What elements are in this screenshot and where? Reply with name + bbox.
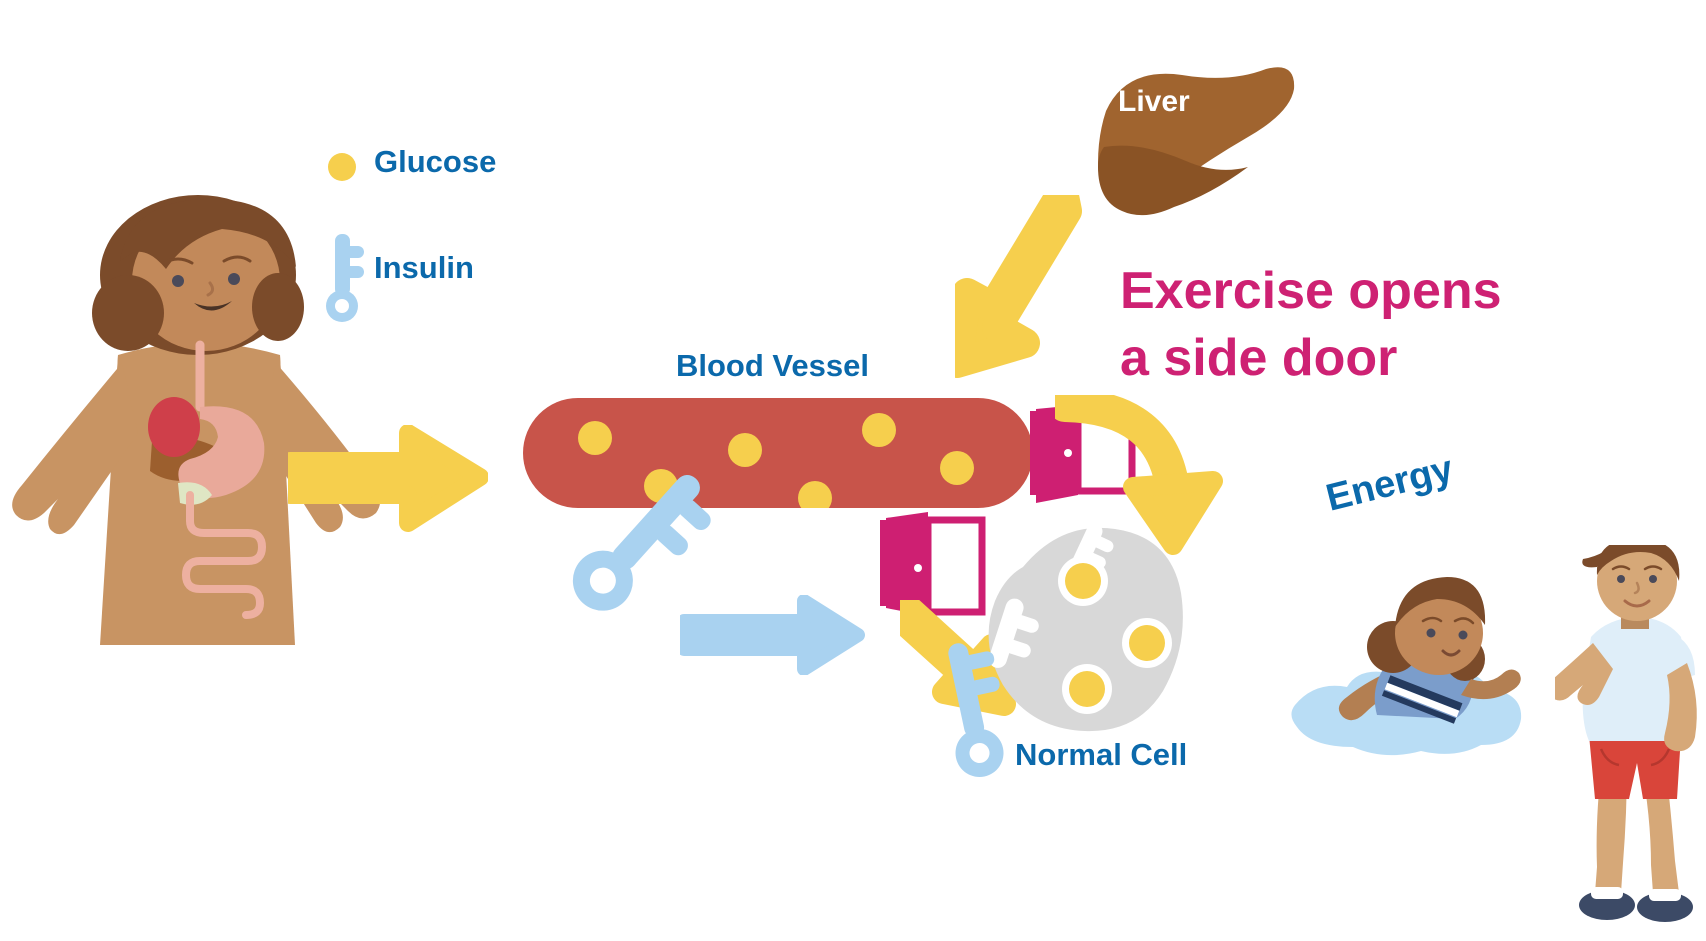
glucose-dot: [728, 433, 762, 467]
glucose-dot: [862, 413, 896, 447]
girl-swimming: [1285, 555, 1535, 805]
legend-insulin-key-icon: [322, 232, 366, 322]
glucose-dot: [578, 421, 612, 455]
headline-line-2: a side door: [1120, 325, 1640, 392]
arrow-liver-to-vessel: [955, 195, 1085, 385]
glucose-dot: [1129, 625, 1165, 661]
legend-item-label-glucose: Glucose: [374, 144, 496, 180]
page-headline: Exercise opens a side door: [1120, 258, 1640, 391]
glucose-dot: [1069, 671, 1105, 707]
liver-organ: [1070, 55, 1300, 220]
legend-item-label-insulin: Insulin: [374, 250, 474, 286]
headline-line-1: Exercise opens: [1120, 258, 1640, 325]
liver-label: Liver: [1118, 85, 1190, 119]
doorknob-icon: [914, 564, 922, 572]
boy-standing: [1555, 545, 1706, 925]
legend-glucose-dot: [325, 150, 359, 184]
arrow-insulin-to-door: [680, 595, 865, 675]
normal-cell-label: Normal Cell: [1015, 737, 1187, 773]
glucose-dot: [1065, 563, 1101, 599]
blood-vessel-label: Blood Vessel: [676, 348, 869, 384]
diagram-canvas: Glucose Insulin Liver Exercise opens a s…: [0, 0, 1706, 941]
energy-label: Energy: [1322, 448, 1457, 521]
arrow-woman-to-vessel: [288, 425, 488, 535]
glucose-dot: [940, 451, 974, 485]
